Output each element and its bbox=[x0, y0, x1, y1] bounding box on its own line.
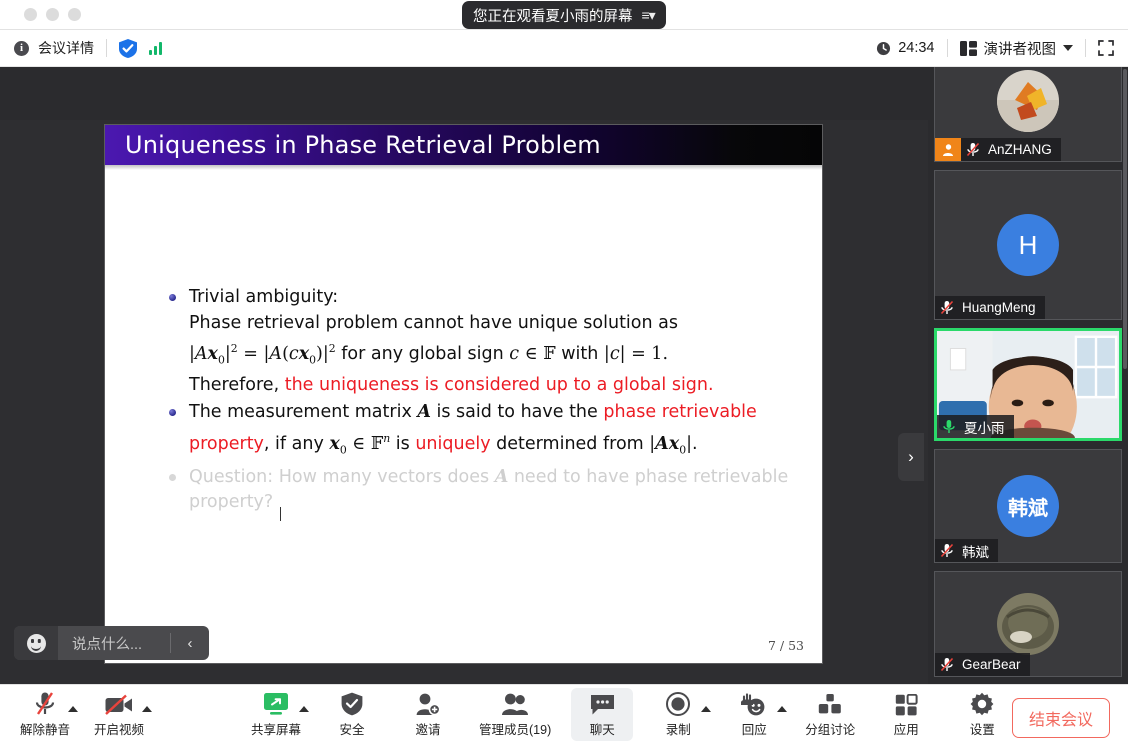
participant-name: HuangMeng bbox=[959, 300, 1036, 315]
participant-nameplate: HuangMeng bbox=[935, 296, 1045, 319]
toolbar-right-group: 结束会议 bbox=[1012, 698, 1110, 738]
meeting-timer: 24:34 bbox=[876, 40, 934, 56]
mute-button-label: 解除静音 bbox=[20, 719, 70, 738]
meeting-timer-value: 24:34 bbox=[898, 40, 934, 56]
divider bbox=[1085, 39, 1086, 57]
presentation-slide: Uniqueness in Phase Retrieval Problem Tr… bbox=[105, 125, 822, 663]
share-screen-button[interactable]: 共享屏幕 bbox=[245, 685, 307, 743]
screen-share-banner[interactable]: 您正在观看夏小雨的屏幕 ≡▾ bbox=[462, 1, 666, 29]
shared-screen-stage: Uniqueness in Phase Retrieval Problem Tr… bbox=[0, 67, 928, 684]
clock-icon bbox=[876, 41, 891, 56]
chat-bubble-icon bbox=[590, 692, 615, 716]
reactions-button[interactable]: 回应 bbox=[723, 685, 785, 743]
mic-muted-icon bbox=[935, 300, 959, 315]
fullscreen-icon[interactable] bbox=[1098, 40, 1114, 56]
zoom-meeting-window: 您正在观看夏小雨的屏幕 ≡▾ i 会议详情 24:34 演讲者视图 bbox=[0, 0, 1128, 743]
mic-unmuted-icon bbox=[937, 419, 961, 434]
participants-button[interactable]: 管理成员(19) bbox=[473, 685, 557, 743]
apps-button[interactable]: 应用 bbox=[875, 685, 937, 743]
bullet-dot-icon bbox=[169, 409, 176, 416]
participant-tile-self[interactable]: 夏小雨 bbox=[934, 328, 1122, 441]
participants-icon bbox=[502, 692, 528, 716]
meeting-toolbar: 解除静音 开启视频 共享屏幕 bbox=[0, 684, 1128, 743]
toolbar-main-group: 共享屏幕 安全 邀请 管理成员(19) bbox=[245, 685, 1013, 743]
bullet-line: |Ax0|2 = |A(cx0)|2 for any global sign c… bbox=[189, 336, 822, 373]
window-titlebar: 您正在观看夏小雨的屏幕 ≡▾ bbox=[0, 0, 1128, 30]
slide-bullet-trivial-ambiguity: Trivial ambiguity: Phase retrieval probl… bbox=[169, 285, 822, 398]
participant-name: 韩斌 bbox=[959, 541, 989, 561]
info-bar-right: 24:34 演讲者视图 bbox=[876, 38, 1114, 59]
participant-tile[interactable]: AnZHANG bbox=[934, 67, 1122, 162]
participants-label: 管理成员(19) bbox=[479, 719, 551, 738]
slide-bullet-phase-retrievable-property: The measurement matrix A is said to have… bbox=[169, 400, 822, 462]
screen-share-banner-label: 您正在观看夏小雨的屏幕 bbox=[473, 5, 633, 26]
slide-page-number: 7 / 53 bbox=[768, 638, 804, 653]
highlight-text: the uniqueness is considered up to a glo… bbox=[285, 375, 714, 395]
host-badge-icon bbox=[935, 138, 961, 161]
chevron-up-icon[interactable] bbox=[142, 706, 152, 712]
reactions-label: 回应 bbox=[742, 719, 767, 738]
info-icon: i bbox=[14, 41, 29, 56]
close-button[interactable] bbox=[24, 8, 37, 21]
slide-body: Trivial ambiguity: Phase retrieval probl… bbox=[105, 170, 822, 516]
avatar: 韩斌 bbox=[997, 475, 1059, 537]
record-label: 录制 bbox=[666, 719, 691, 738]
gear-icon bbox=[970, 692, 994, 716]
participant-name: 夏小雨 bbox=[961, 417, 1005, 437]
add-person-icon bbox=[416, 692, 440, 716]
chevron-up-icon[interactable] bbox=[777, 706, 787, 712]
signal-bars-icon[interactable] bbox=[149, 41, 162, 55]
end-meeting-button[interactable]: 结束会议 bbox=[1012, 698, 1110, 738]
smiley-icon[interactable] bbox=[14, 626, 58, 660]
avatar bbox=[997, 70, 1059, 132]
quick-chat-input[interactable]: 说点什么... bbox=[58, 633, 170, 654]
bullet-line: Question: How many vectors does A need t… bbox=[189, 465, 822, 491]
breakout-rooms-button[interactable]: 分组讨论 bbox=[799, 685, 861, 743]
slide-title: Uniqueness in Phase Retrieval Problem bbox=[125, 131, 601, 159]
shield-icon bbox=[341, 692, 363, 716]
reactions-icon bbox=[741, 692, 767, 716]
video-button[interactable]: 开启视频 bbox=[88, 685, 150, 743]
rail-expand-toggle[interactable]: › bbox=[898, 433, 924, 481]
settings-label: 设置 bbox=[970, 719, 995, 738]
share-screen-icon bbox=[263, 692, 289, 716]
shield-check-icon[interactable] bbox=[119, 39, 137, 58]
chat-button[interactable]: 聊天 bbox=[571, 688, 633, 741]
bullet-dot-icon bbox=[169, 474, 176, 481]
chevron-up-icon[interactable] bbox=[299, 706, 309, 712]
bullet-dot-icon bbox=[169, 294, 176, 301]
security-label: 安全 bbox=[340, 719, 365, 738]
participant-tile[interactable]: 韩斌 韩斌 bbox=[934, 449, 1122, 563]
chevron-left-icon[interactable]: ‹ bbox=[171, 626, 209, 660]
breakout-rooms-icon bbox=[818, 692, 842, 716]
divider bbox=[947, 39, 948, 57]
record-button[interactable]: 录制 bbox=[647, 685, 709, 743]
quick-chat-bar[interactable]: 说点什么... ‹ bbox=[14, 626, 209, 660]
avatar bbox=[997, 593, 1059, 655]
text-cursor bbox=[280, 507, 281, 521]
mute-button[interactable]: 解除静音 bbox=[14, 685, 76, 743]
meeting-details-group[interactable]: i 会议详情 bbox=[14, 38, 94, 58]
apps-label: 应用 bbox=[894, 719, 919, 738]
divider bbox=[106, 39, 107, 57]
apps-grid-icon bbox=[895, 692, 918, 716]
bullet-line: Trivial ambiguity: bbox=[189, 285, 822, 311]
rail-scrollbar[interactable] bbox=[1123, 69, 1127, 369]
view-mode-label: 演讲者视图 bbox=[984, 38, 1057, 59]
participant-name: AnZHANG bbox=[985, 142, 1052, 157]
minimize-button[interactable] bbox=[46, 8, 59, 21]
share-screen-label: 共享屏幕 bbox=[251, 719, 301, 738]
meeting-details-label: 会议详情 bbox=[38, 38, 94, 58]
menu-lines-icon[interactable]: ≡▾ bbox=[642, 7, 655, 24]
slide-title-bar: Uniqueness in Phase Retrieval Problem bbox=[105, 125, 822, 165]
view-mode-selector[interactable]: 演讲者视图 bbox=[960, 38, 1074, 59]
security-button[interactable]: 安全 bbox=[321, 685, 383, 743]
participant-tile[interactable]: H HuangMeng bbox=[934, 170, 1122, 320]
participant-nameplate: GearBear bbox=[935, 653, 1030, 676]
participants-rail[interactable]: AnZHANG H HuangMeng bbox=[928, 67, 1128, 684]
chevron-down-icon[interactable] bbox=[1063, 45, 1073, 51]
mic-muted-icon bbox=[935, 543, 959, 558]
settings-button[interactable]: 设置 bbox=[951, 685, 1013, 743]
stage-top-strip bbox=[0, 67, 928, 120]
video-button-label: 开启视频 bbox=[94, 719, 144, 738]
mic-muted-icon bbox=[935, 657, 959, 672]
meeting-info-bar: i 会议详情 24:34 演讲者视图 bbox=[0, 30, 1128, 67]
bullet-line: property? bbox=[189, 490, 822, 516]
participant-nameplate: 夏小雨 bbox=[937, 415, 1014, 438]
traffic-lights bbox=[24, 8, 81, 21]
record-icon bbox=[666, 692, 690, 716]
bullet-line: Phase retrieval problem cannot have uniq… bbox=[189, 311, 822, 337]
slide-bullet-question: Question: How many vectors does A need t… bbox=[169, 465, 822, 516]
toolbar-left-group: 解除静音 开启视频 bbox=[14, 685, 150, 743]
bullet-line: The measurement matrix A is said to have… bbox=[189, 400, 822, 426]
participant-nameplate: 韩斌 bbox=[935, 539, 998, 562]
chevron-up-icon[interactable] bbox=[701, 706, 711, 712]
chat-label: 聊天 bbox=[590, 719, 615, 738]
bullet-line: property, if any x0 ∈ 𝔽n is uniquely det… bbox=[189, 426, 822, 463]
breakout-rooms-label: 分组讨论 bbox=[805, 719, 855, 738]
invite-button[interactable]: 邀请 bbox=[397, 685, 459, 743]
chevron-up-icon[interactable] bbox=[68, 706, 78, 712]
avatar: H bbox=[997, 214, 1059, 276]
bullet-line: Therefore, the uniqueness is considered … bbox=[189, 373, 822, 399]
participant-tile[interactable]: GearBear bbox=[934, 571, 1122, 677]
microphone-muted-icon bbox=[33, 692, 57, 716]
layout-view-icon bbox=[960, 41, 977, 56]
camera-off-icon bbox=[105, 692, 133, 716]
invite-label: 邀请 bbox=[416, 719, 441, 738]
participant-name: GearBear bbox=[959, 657, 1021, 672]
slide-bullet-list: Trivial ambiguity: Phase retrieval probl… bbox=[169, 285, 822, 516]
zoom-button[interactable] bbox=[68, 8, 81, 21]
participant-nameplate: AnZHANG bbox=[935, 138, 1061, 161]
mic-muted-icon bbox=[961, 142, 985, 157]
